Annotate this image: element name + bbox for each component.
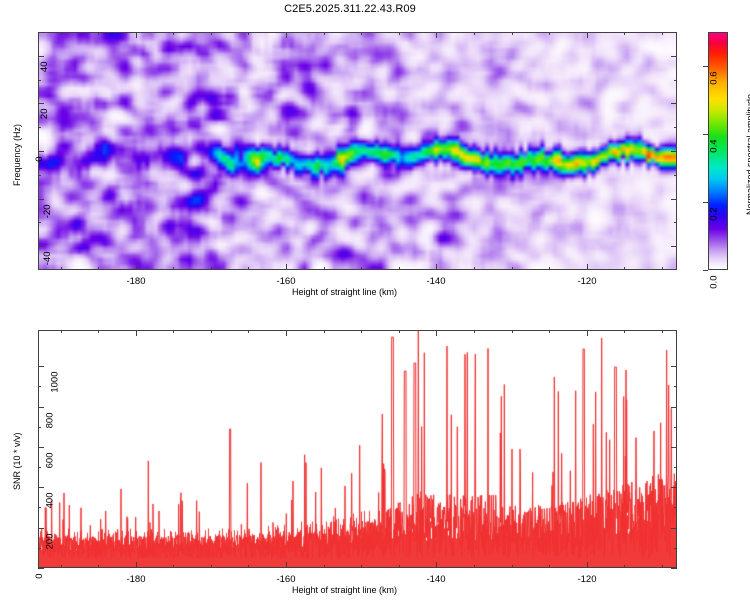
y-minor-tick-right <box>674 507 677 508</box>
x-minor-tick <box>361 565 362 568</box>
y-minor-tick-right <box>674 427 677 428</box>
y-tick-label: 800 <box>44 413 55 429</box>
y-minor-tick <box>38 127 41 128</box>
x-minor-tick-top <box>248 330 249 333</box>
x-minor-tick-top <box>98 330 99 333</box>
x-minor-tick <box>98 565 99 568</box>
y-tick-label: 20 <box>39 109 50 120</box>
x-tick-label: -160 <box>260 276 312 287</box>
x-tick <box>587 562 588 568</box>
y-tick <box>38 407 44 408</box>
y-minor-tick <box>38 467 41 468</box>
y-tick-right <box>671 568 677 569</box>
x-tick-top <box>587 330 588 336</box>
snr-trace <box>39 331 676 567</box>
x-tick <box>436 264 437 270</box>
x-tick <box>436 562 437 568</box>
x-minor-tick <box>211 565 212 568</box>
y-minor-tick-right <box>674 80 677 81</box>
y-tick-right <box>671 246 677 247</box>
x-minor-tick-top <box>361 330 362 333</box>
y-tick-right <box>671 447 677 448</box>
x-minor-tick <box>173 565 174 568</box>
x-tick-label: -160 <box>260 574 312 585</box>
x-minor-tick-top <box>248 32 249 35</box>
x-tick <box>136 264 137 270</box>
x-minor-tick-top <box>512 330 513 333</box>
x-tick-label: -180 <box>110 276 162 287</box>
x-tick-top <box>286 330 287 336</box>
colorbar-tick <box>703 134 708 135</box>
y-tick <box>38 447 44 448</box>
x-tick-label: -140 <box>410 574 462 585</box>
x-tick-top <box>587 32 588 38</box>
x-tick-top <box>436 32 437 38</box>
colorbar-label: Normalized spectral amplitude <box>745 94 750 215</box>
y-minor-tick <box>38 548 41 549</box>
y-tick <box>38 56 44 57</box>
x-tick-top <box>436 330 437 336</box>
x-tick <box>286 562 287 568</box>
y-tick-label: 1000 <box>50 372 61 393</box>
x-tick-label: -120 <box>561 574 613 585</box>
y-tick-label: -20 <box>42 205 53 219</box>
snr-xlabel: Height of straight line (km) <box>292 585 397 595</box>
x-minor-tick <box>662 565 663 568</box>
spectrogram-xlabel: Height of straight line (km) <box>292 287 397 297</box>
y-tick <box>38 487 44 488</box>
y-minor-tick <box>38 507 41 508</box>
y-tick <box>38 528 44 529</box>
y-tick-right <box>671 56 677 57</box>
colorbar-tick-label: 0.0 <box>709 276 720 289</box>
y-minor-tick <box>38 386 41 387</box>
x-minor-tick-top <box>549 330 550 333</box>
y-tick-right <box>671 366 677 367</box>
y-minor-tick <box>38 175 41 176</box>
y-tick-right <box>671 407 677 408</box>
y-tick <box>38 366 44 367</box>
x-minor-tick-top <box>98 32 99 35</box>
spectrogram-image <box>39 33 676 269</box>
x-minor-tick-top <box>361 32 362 35</box>
colorbar-tick-label: 0.6 <box>709 72 720 85</box>
y-minor-tick-right <box>674 127 677 128</box>
x-minor-tick-top <box>549 32 550 35</box>
spectrogram-panel <box>38 32 677 270</box>
x-minor-tick-top <box>474 32 475 35</box>
x-tick-top <box>286 32 287 38</box>
x-tick-label: -180 <box>110 574 162 585</box>
x-minor-tick <box>361 267 362 270</box>
x-minor-tick-top <box>324 32 325 35</box>
y-minor-tick <box>38 80 41 81</box>
x-minor-tick-top <box>173 330 174 333</box>
y-tick-label: 400 <box>44 493 55 509</box>
y-minor-tick-right <box>674 386 677 387</box>
x-minor-tick <box>324 565 325 568</box>
y-tick-label: 200 <box>44 534 55 550</box>
x-minor-tick <box>61 267 62 270</box>
x-minor-tick-top <box>211 32 212 35</box>
x-minor-tick-top <box>61 32 62 35</box>
x-minor-tick <box>211 267 212 270</box>
x-tick-top <box>136 32 137 38</box>
y-tick <box>38 103 44 104</box>
x-minor-tick <box>624 565 625 568</box>
x-tick <box>136 562 137 568</box>
colorbar-tick <box>703 270 708 271</box>
x-minor-tick-top <box>324 330 325 333</box>
y-minor-tick-right <box>674 467 677 468</box>
x-tick-label: -140 <box>410 276 462 287</box>
x-minor-tick <box>399 565 400 568</box>
y-tick-label: 600 <box>44 453 55 469</box>
x-tick-label: -120 <box>561 276 613 287</box>
x-minor-tick <box>512 565 513 568</box>
y-tick-right <box>671 199 677 200</box>
x-minor-tick <box>98 267 99 270</box>
colorbar-tick <box>703 66 708 67</box>
y-tick-label: -40 <box>42 252 53 266</box>
x-minor-tick-top <box>662 330 663 333</box>
x-minor-tick <box>662 267 663 270</box>
x-minor-tick <box>248 267 249 270</box>
y-minor-tick-right <box>674 175 677 176</box>
y-tick <box>38 568 44 569</box>
y-tick-label: 40 <box>39 62 50 73</box>
y-tick-label: 0 <box>34 157 45 162</box>
x-minor-tick-top <box>624 330 625 333</box>
y-minor-tick <box>38 222 41 223</box>
spectrogram-ylabel: Frequency (Hz) <box>12 124 22 186</box>
y-minor-tick-right <box>674 548 677 549</box>
x-minor-tick-top <box>512 32 513 35</box>
y-tick-right <box>671 528 677 529</box>
x-minor-tick-top <box>61 330 62 333</box>
colorbar-tick-label: 0.2 <box>709 208 720 221</box>
x-minor-tick-top <box>624 32 625 35</box>
x-minor-tick <box>474 267 475 270</box>
x-minor-tick-top <box>173 32 174 35</box>
y-minor-tick <box>38 427 41 428</box>
y-tick-right <box>671 151 677 152</box>
x-minor-tick <box>549 565 550 568</box>
figure-title: C2E5.2025.311.22.43.R09 <box>0 3 700 15</box>
x-tick <box>587 264 588 270</box>
y-minor-tick-right <box>674 222 677 223</box>
x-minor-tick <box>324 267 325 270</box>
y-tick-right <box>671 103 677 104</box>
y-tick <box>38 199 44 200</box>
x-minor-tick <box>474 565 475 568</box>
x-tick <box>286 264 287 270</box>
x-minor-tick-top <box>662 32 663 35</box>
colorbar-tick <box>703 202 708 203</box>
snr-panel <box>38 330 677 568</box>
x-minor-tick <box>61 565 62 568</box>
y-tick-label: 0 <box>34 574 45 579</box>
y-tick <box>38 151 44 152</box>
figure-root: C2E5.2025.311.22.43.R09 -180-160-140-120… <box>0 0 750 600</box>
x-minor-tick <box>248 565 249 568</box>
snr-ylabel: SNR (10 * v/v) <box>12 432 22 490</box>
y-tick-right <box>671 487 677 488</box>
x-minor-tick-top <box>211 330 212 333</box>
x-tick-top <box>136 330 137 336</box>
x-minor-tick <box>512 267 513 270</box>
x-minor-tick <box>399 267 400 270</box>
x-minor-tick-top <box>399 330 400 333</box>
x-minor-tick-top <box>474 330 475 333</box>
x-minor-tick <box>549 267 550 270</box>
x-minor-tick <box>173 267 174 270</box>
y-tick <box>38 246 44 247</box>
x-minor-tick <box>624 267 625 270</box>
colorbar-tick-label: 0.4 <box>709 140 720 153</box>
x-minor-tick-top <box>399 32 400 35</box>
